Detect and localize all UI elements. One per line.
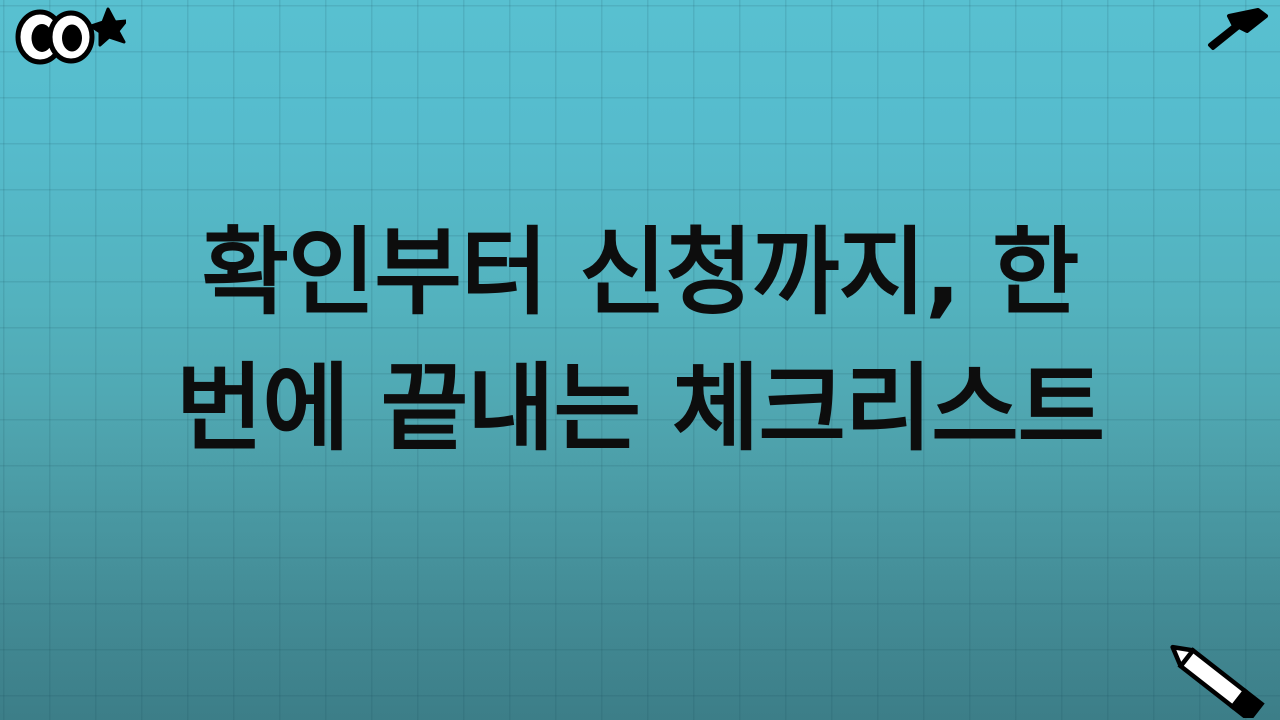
- pencil-icon: [1156, 640, 1274, 718]
- eye-right-icon: [50, 13, 92, 61]
- arrow-southwest-icon: [1204, 4, 1270, 52]
- star-icon: [91, 9, 126, 45]
- slide-headline: 확인부터 신청까지, 한 번에 끝내는 체크리스트: [0, 206, 1280, 478]
- slide-canvas: 확인부터 신청까지, 한 번에 끝내는 체크리스트: [0, 0, 1280, 720]
- eyes-and-star-logo: [8, 4, 126, 66]
